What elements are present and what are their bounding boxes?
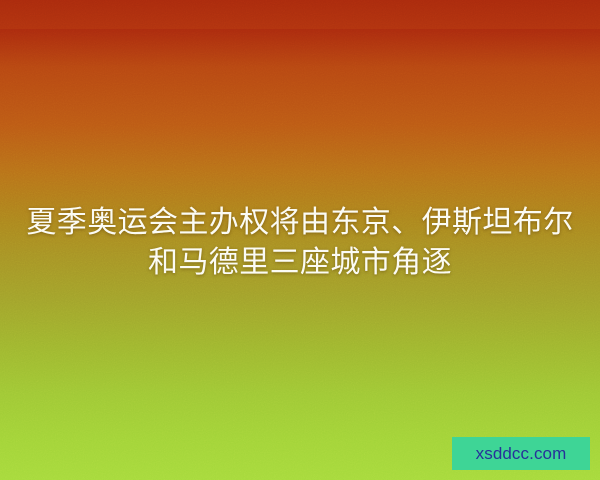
watermark-badge: xsddcc.com	[452, 437, 590, 470]
headline-text: 夏季奥运会主办权将由东京、伊斯坦布尔 和马德里三座城市角逐	[24, 203, 576, 283]
watermark-label: xsddcc.com	[476, 445, 567, 462]
image-card: 夏季奥运会主办权将由东京、伊斯坦布尔 和马德里三座城市角逐 xsddcc.com	[0, 0, 600, 480]
